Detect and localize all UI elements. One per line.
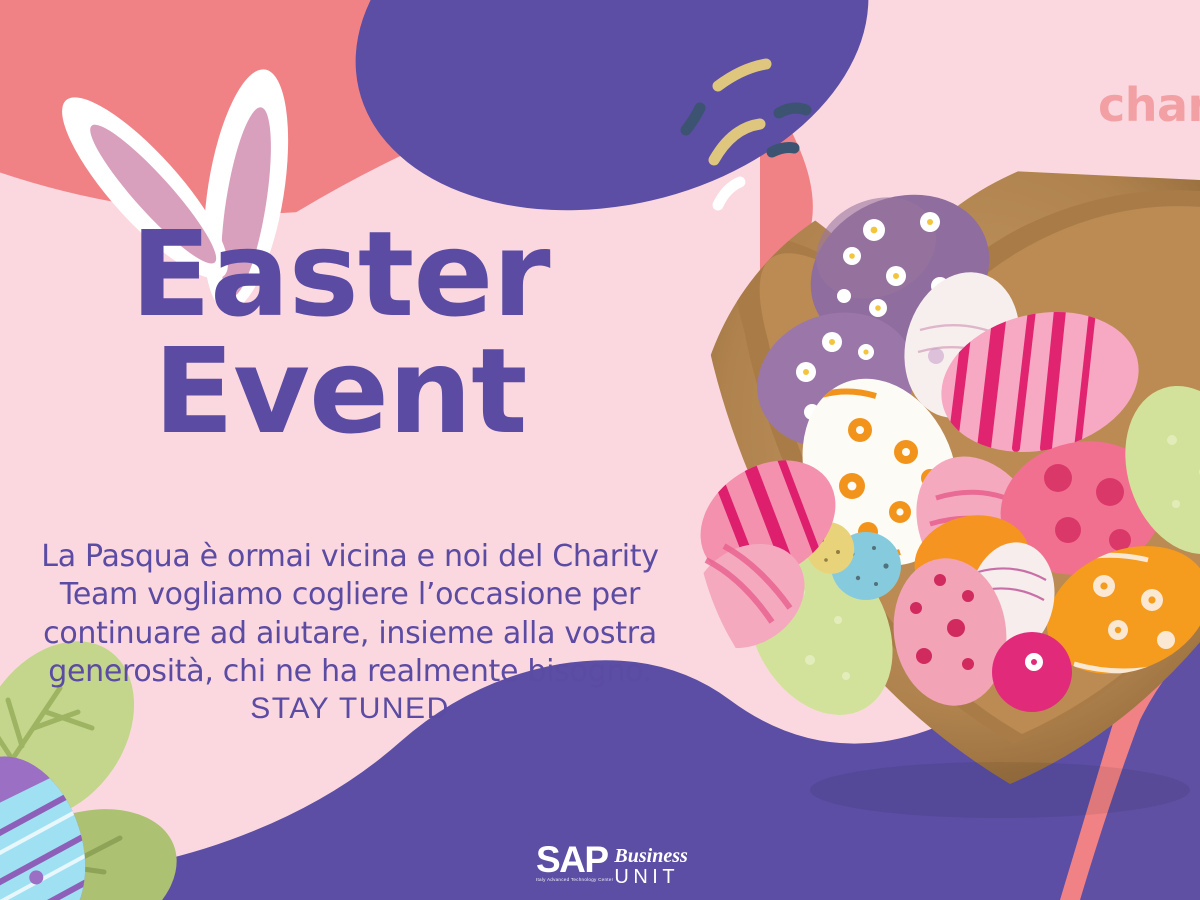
title-line-event: Event xyxy=(0,335,680,448)
easter-event-poster: charity Easter Event La Pasqua è ormai v… xyxy=(0,0,1200,900)
charity-watermark: charity xyxy=(1098,78,1200,132)
sap-wordmark: SAP xyxy=(536,843,613,876)
page-title: Easter Event xyxy=(0,218,680,449)
confetti-navy-3 xyxy=(772,148,794,153)
sap-unit-word: UNIT xyxy=(614,867,687,888)
sap-tagline: Italy Advanced Technology Center xyxy=(536,877,613,882)
body-paragraph: La Pasqua è ormai vicina e noi del Chari… xyxy=(40,538,660,692)
sap-business-unit-logo: SAP Italy Advanced Technology Center Bus… xyxy=(536,843,688,888)
stay-tuned-text: STAY TUNED xyxy=(40,692,660,726)
confetti-navy-1 xyxy=(779,108,806,113)
sap-business-unit-text: Business UNIT xyxy=(614,843,687,888)
sap-mark: SAP Italy Advanced Technology Center xyxy=(536,843,613,882)
sap-business-word: Business xyxy=(614,846,687,866)
egg-magenta-small xyxy=(992,632,1072,712)
title-line-easter: Easter xyxy=(0,218,680,331)
